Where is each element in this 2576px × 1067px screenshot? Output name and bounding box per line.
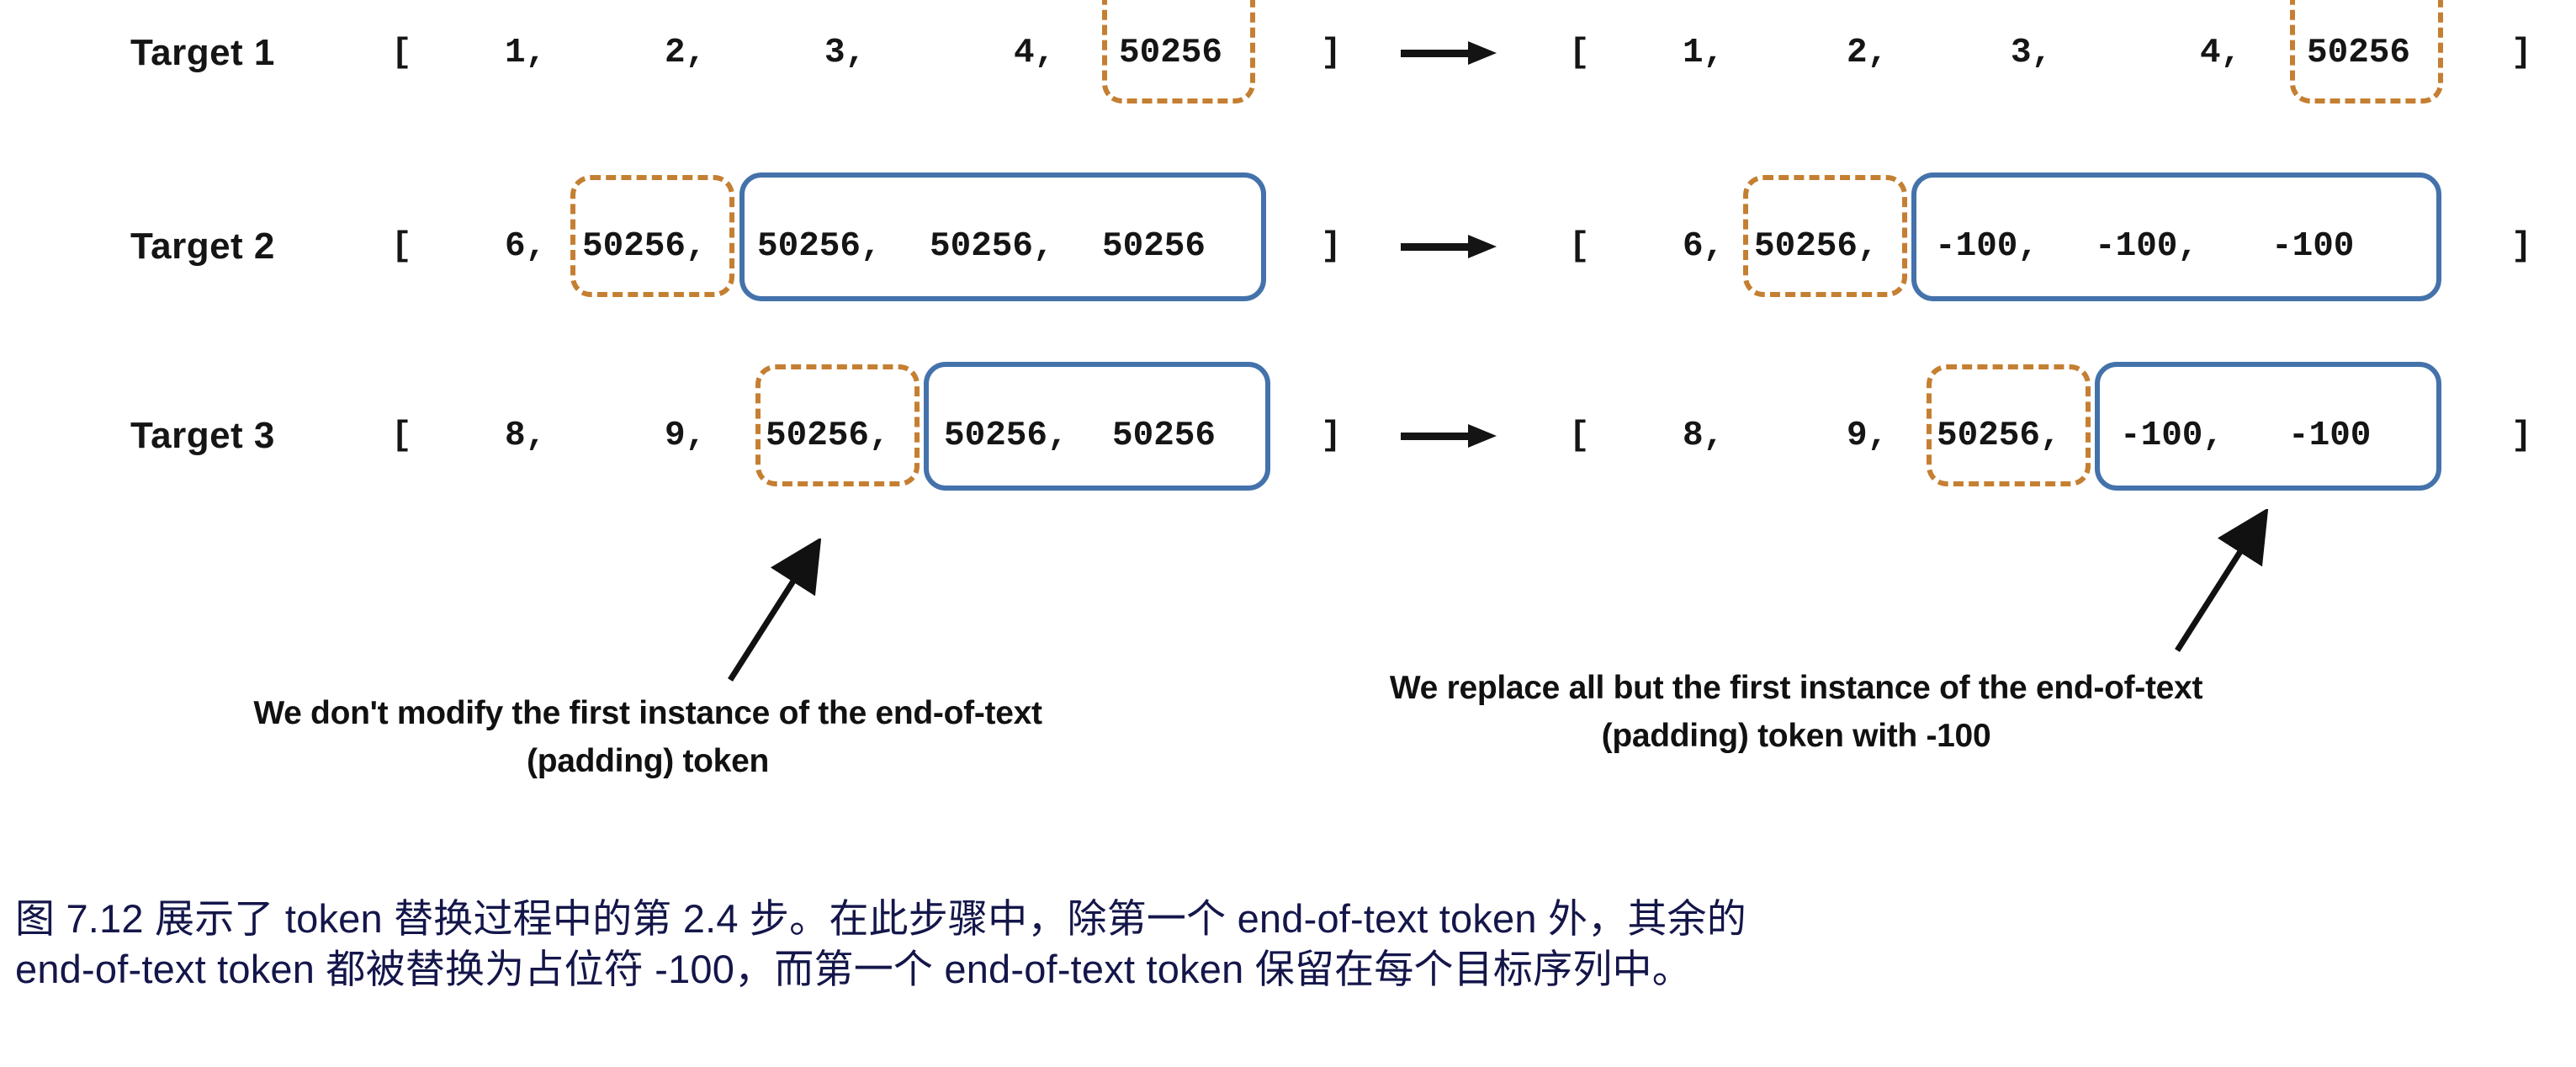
r3-left-boxed-token-0: 50256,: [944, 417, 1068, 455]
r1-left-token-2: 3,: [824, 34, 866, 72]
r2-right-boxed-token-2: -100: [2271, 227, 2354, 266]
r2-left-boxed-token-0: 50256,: [757, 227, 882, 266]
r1-right-close-bracket: ]: [2511, 34, 2532, 72]
r1-left-pad-token: 50256: [1119, 34, 1222, 72]
sequence-row-target-1: Target 1 [ 1, 2, 3, 4, 50256 ] [ 1, 2, 3…: [0, 0, 2576, 135]
r2-right-boxed-token-0: -100,: [1935, 227, 2038, 266]
r2-left-boxed-token-2: 50256: [1102, 227, 1206, 266]
r2-left-open-bracket: [: [391, 227, 412, 266]
r1-left-close-bracket: ]: [1321, 34, 1342, 72]
sequence-row-target-2: Target 2 [ 6, 50256, 50256, 50256, 50256…: [0, 160, 2576, 328]
arrow-head: [1468, 41, 1497, 65]
sequence-row-target-3: Target 3 [ 8, 9, 50256, 50256, 50256 ] […: [0, 349, 2576, 518]
left-annotation-pointer-arrow: [707, 539, 925, 690]
row-label-target-1: Target 1: [130, 32, 275, 74]
row-label-target-3: Target 3: [130, 415, 275, 457]
r3-right-open-bracket: [: [1569, 417, 1590, 455]
r3-right-boxed-token-1: -100: [2288, 417, 2371, 455]
caption-line-1: 图 7.12 展示了 token 替换过程中的第 2.4 步。在此步骤中，除第一…: [15, 894, 2556, 944]
r1-right-token-3: 4,: [2200, 34, 2241, 72]
r3-left-token-1: 9,: [665, 417, 706, 455]
r2-right-close-bracket: ]: [2511, 227, 2532, 266]
r2-right-boxed-token-1: -100,: [2095, 227, 2198, 266]
r1-left-token-0: 1,: [505, 34, 546, 72]
token-replacement-figure: Target 1 [ 1, 2, 3, 4, 50256 ] [ 1, 2, 3…: [0, 0, 2576, 850]
r1-right-token-0: 1,: [1683, 34, 1724, 72]
r3-left-open-bracket: [: [391, 417, 412, 455]
r3-left-token-0: 8,: [505, 417, 546, 455]
arrow-head: [1468, 424, 1497, 448]
r2-left-close-bracket: ]: [1321, 227, 1342, 266]
r3-left-pad-token: 50256,: [766, 417, 890, 455]
r2-left-pad-token: 50256,: [582, 227, 707, 266]
r2-left-token-0: 6,: [505, 227, 546, 266]
arrow-shaft: [1401, 243, 1473, 251]
r1-right-token-2: 3,: [2011, 34, 2052, 72]
r3-left-boxed-token-1: 50256: [1112, 417, 1216, 455]
r1-right-token-1: 2,: [1847, 34, 1888, 72]
r3-left-close-bracket: ]: [1321, 417, 1342, 455]
r1-right-open-bracket: [: [1569, 34, 1590, 72]
r3-right-close-bracket: ]: [2511, 417, 2532, 455]
r3-right-pad-token: 50256,: [1937, 417, 2061, 455]
r3-transform-arrow: [1401, 427, 1502, 443]
row-label-target-2: Target 2: [130, 226, 275, 268]
right-annotation-pointer-arrow: [2154, 509, 2372, 661]
r1-left-token-3: 4,: [1014, 34, 1055, 72]
caption-line-2: end-of-text token 都被替换为占位符 -100，而第一个 end…: [15, 944, 2556, 995]
r1-left-open-bracket: [: [391, 34, 412, 72]
figure-caption: 图 7.12 展示了 token 替换过程中的第 2.4 步。在此步骤中，除第一…: [15, 894, 2556, 995]
arrow-head: [1468, 235, 1497, 258]
arrow-shaft: [1401, 50, 1473, 57]
r1-left-token-1: 2,: [665, 34, 706, 72]
annotation-left-text: We don't modify the first instance of th…: [227, 690, 1068, 785]
r2-transform-arrow: [1401, 237, 1502, 254]
r2-right-open-bracket: [: [1569, 227, 1590, 266]
r3-right-token-1: 9,: [1847, 417, 1888, 455]
r3-right-token-0: 8,: [1683, 417, 1724, 455]
r2-left-boxed-token-1: 50256,: [930, 227, 1054, 266]
annotation-right-text: We replace all but the first instance of…: [1312, 665, 2280, 760]
r1-right-pad-token: 50256: [2307, 34, 2410, 72]
r3-right-boxed-token-0: -100,: [2120, 417, 2224, 455]
r1-transform-arrow: [1401, 44, 1502, 61]
arrow-shaft: [1401, 433, 1473, 440]
r2-right-pad-token: 50256,: [1754, 227, 1879, 266]
r2-right-token-0: 6,: [1683, 227, 1724, 266]
